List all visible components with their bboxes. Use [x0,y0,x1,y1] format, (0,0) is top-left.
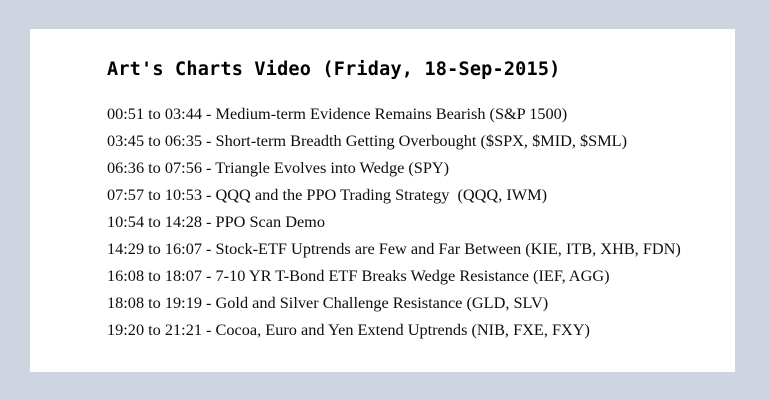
list-item: 19:20 to 21:21 - Cocoa, Euro and Yen Ext… [107,316,681,343]
page-title: Art's Charts Video (Friday, 18-Sep-2015) [107,59,561,80]
list-item: 06:36 to 07:56 - Triangle Evolves into W… [107,154,681,181]
list-item: 14:29 to 16:07 - Stock-ETF Uptrends are … [107,235,681,262]
list-item: 16:08 to 18:07 - 7-10 YR T-Bond ETF Brea… [107,262,681,289]
list-item: 03:45 to 06:35 - Short-term Breadth Gett… [107,127,681,154]
list-item: 10:54 to 14:28 - PPO Scan Demo [107,208,681,235]
list-item: 00:51 to 03:44 - Medium-term Evidence Re… [107,100,681,127]
list-item: 18:08 to 19:19 - Gold and Silver Challen… [107,289,681,316]
chapter-list: 00:51 to 03:44 - Medium-term Evidence Re… [107,100,681,343]
list-item: 07:57 to 10:53 - QQQ and the PPO Trading… [107,181,681,208]
document-page: Art's Charts Video (Friday, 18-Sep-2015)… [30,29,735,372]
